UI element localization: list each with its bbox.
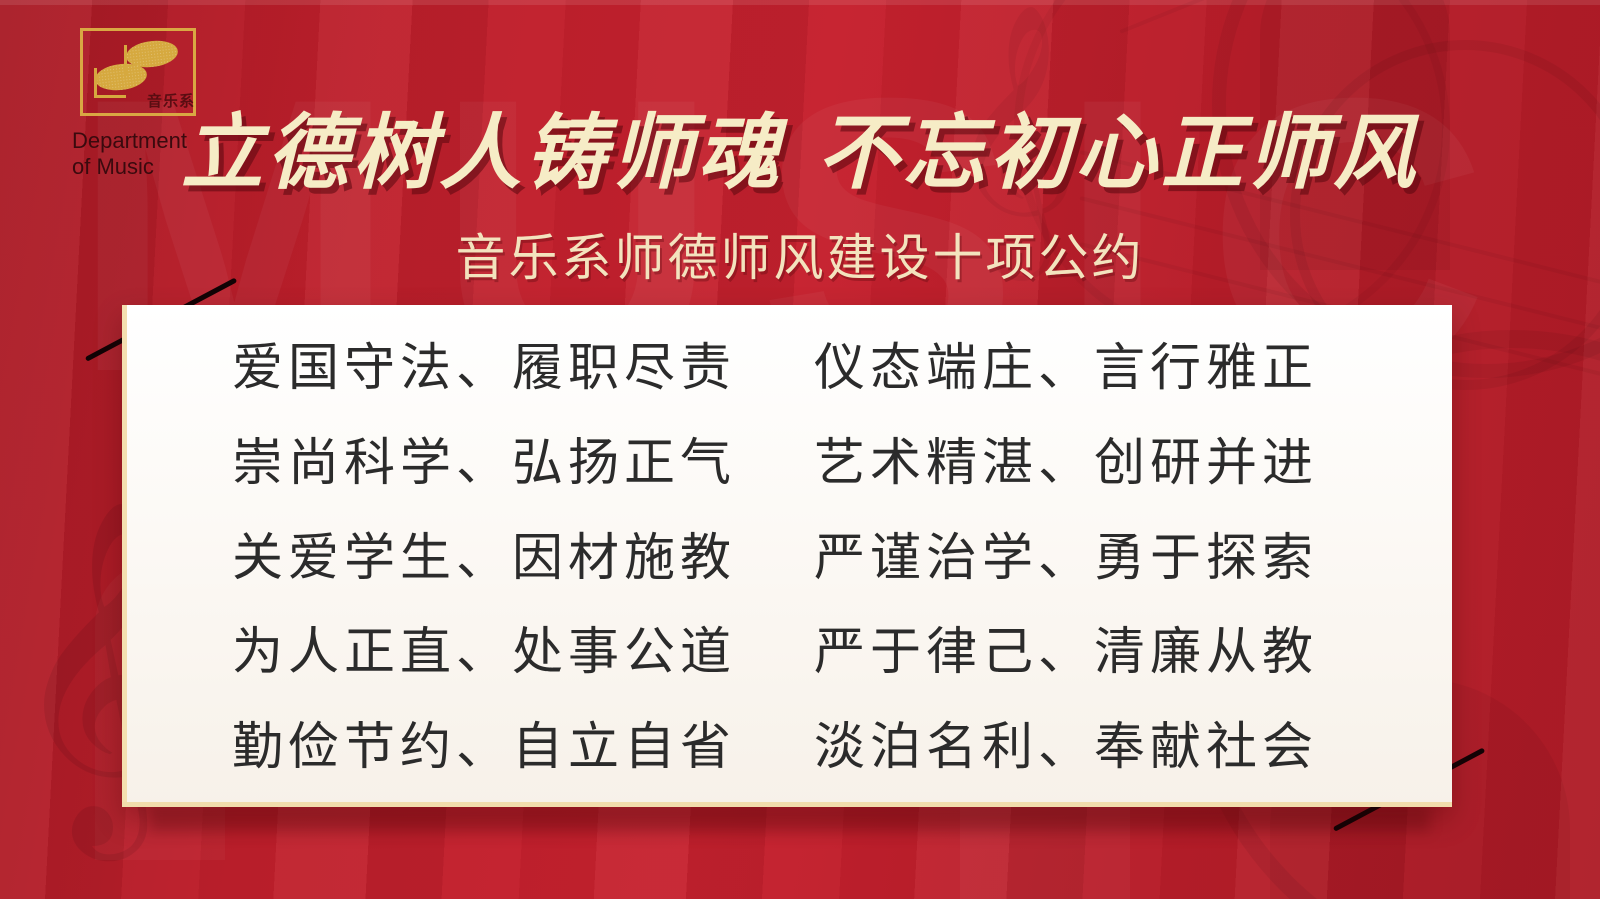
poster-canvas: MUSIC 𝄞 𝄞 ♫ ♪ 音乐系 Department of Music 立德… <box>0 0 1600 899</box>
pledge-row: 为人正直、处事公道 严于律己、清廉从教 <box>232 627 1396 678</box>
pledge-text-left: 为人正直、处事公道 <box>232 627 814 678</box>
pledge-text-right: 仪态端庄、言行雅正 <box>814 343 1396 394</box>
pledge-row: 勤俭节约、自立自省 淡泊名利、奉献社会 <box>232 722 1396 773</box>
pledge-row: 崇尚科学、弘扬正气 艺术精湛、创研并进 <box>232 438 1396 489</box>
pledge-row: 爱国守法、履职尽责 仪态端庄、言行雅正 <box>232 343 1396 394</box>
pledge-text-right: 淡泊名利、奉献社会 <box>814 722 1396 773</box>
card-drop-shadow <box>150 806 1430 832</box>
pledge-text-left: 爱国守法、履职尽责 <box>232 343 814 394</box>
pledge-list: 爱国守法、履职尽责 仪态端庄、言行雅正 崇尚科学、弘扬正气 艺术精湛、创研并进 … <box>122 305 1452 807</box>
pledge-text-left: 关爱学生、因材施教 <box>232 533 814 584</box>
pledge-text-left: 崇尚科学、弘扬正气 <box>232 438 814 489</box>
pledge-text-left: 勤俭节约、自立自省 <box>232 722 814 773</box>
pledge-text-right: 艺术精湛、创研并进 <box>814 438 1396 489</box>
pledge-text-right: 严于律己、清廉从教 <box>814 627 1396 678</box>
pledge-card-wrapper: 爱国守法、履职尽责 仪态端庄、言行雅正 崇尚科学、弘扬正气 艺术精湛、创研并进 … <box>0 0 1600 899</box>
pledge-row: 关爱学生、因材施教 严谨治学、勇于探索 <box>232 533 1396 584</box>
pledge-card: 爱国守法、履职尽责 仪态端庄、言行雅正 崇尚科学、弘扬正气 艺术精湛、创研并进 … <box>122 305 1452 807</box>
pledge-text-right: 严谨治学、勇于探索 <box>814 533 1396 584</box>
